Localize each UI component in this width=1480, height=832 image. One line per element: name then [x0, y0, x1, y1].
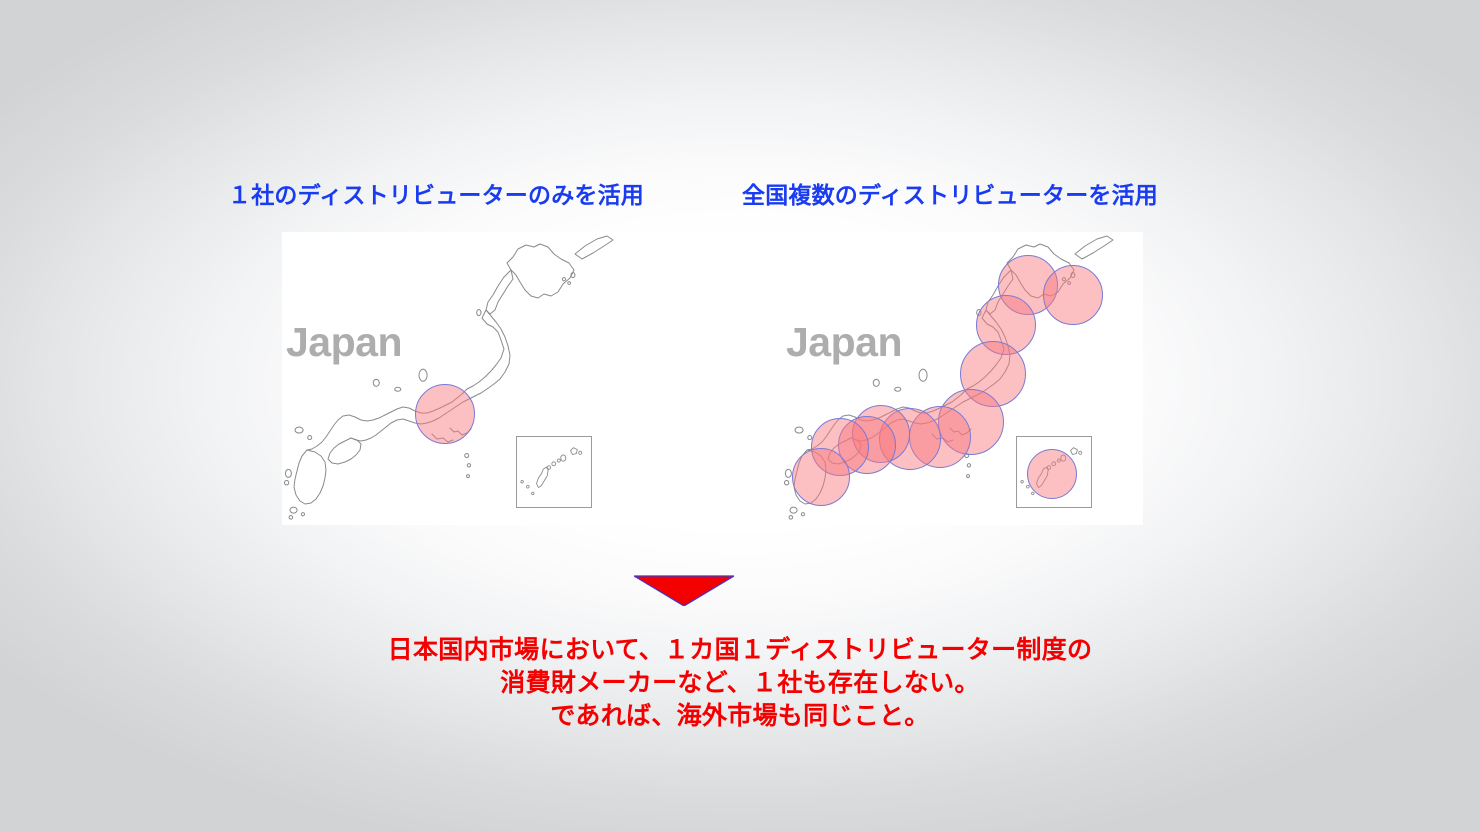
okinawa-inset-left — [516, 436, 592, 508]
map-panel-single-distributor: Japan — [282, 232, 643, 525]
japan-watermark-left: Japan — [286, 322, 402, 363]
conclusion-line-1: 日本国内市場において、１カ国１ディストリビューター制度の — [0, 634, 1480, 667]
okinawa-islands-outline-left — [517, 437, 591, 507]
conclusion-text-block: 日本国内市場において、１カ国１ディストリビューター制度の 消費財メーカーなど、１… — [0, 634, 1480, 733]
distributor-circle-hokkaido-east — [1043, 265, 1103, 325]
okinawa-inset-right — [1016, 436, 1092, 508]
slide-canvas: １社のディストリビューターのみを活用 全国複数のディストリビューターを活用 — [0, 0, 1480, 832]
distributor-circle-kanto — [415, 384, 475, 444]
down-arrow-triangle — [634, 576, 734, 606]
heading-multi-distributor: 全国複数のディストリビューターを活用 — [742, 182, 1158, 210]
distributor-circle-kyushu-south — [792, 448, 850, 506]
heading-single-distributor: １社のディストリビューターのみを活用 — [228, 182, 644, 210]
japan-watermark-right: Japan — [786, 322, 902, 363]
down-arrow-icon — [634, 574, 734, 606]
conclusion-line-3: であれば、海外市場も同じこと。 — [0, 700, 1480, 733]
conclusion-line-2: 消費財メーカーなど、１社も存在しない。 — [0, 667, 1480, 700]
map-panel-multi-distributor: Japan — [782, 232, 1143, 525]
map-band: Japan — [282, 232, 1143, 525]
distributor-circle-okinawa — [1027, 449, 1077, 499]
